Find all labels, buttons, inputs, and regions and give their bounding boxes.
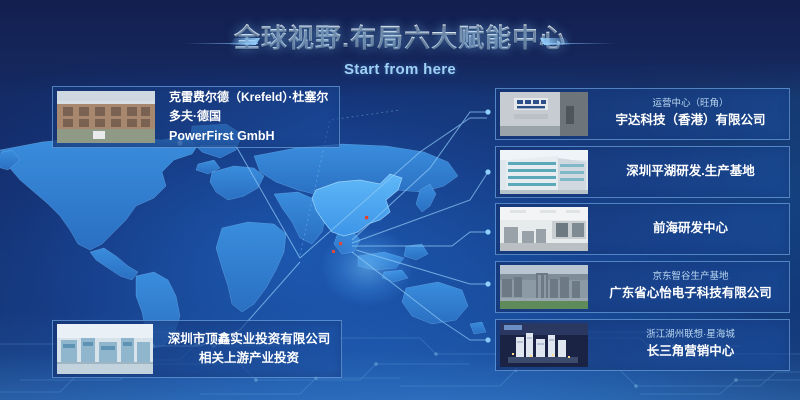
card-rc5-text: 浙江湖州联想·星海城 长三角营销中心 bbox=[592, 328, 789, 362]
slide-canvas: 全球视野.布局六大赋能中心 Start from here bbox=[0, 0, 800, 400]
qianhai-lab-interior-photo bbox=[500, 207, 588, 251]
card-shenzhen-dingxin[interactable]: 深圳市顶鑫实业投资有限公司 相关上游产业投资 bbox=[52, 320, 342, 378]
dingxin-production-line-photo bbox=[57, 324, 153, 374]
card-rc5-sub: 浙江湖州联想·星海城 bbox=[598, 328, 783, 342]
card-krefeld-line2: PowerFirst GmbH bbox=[169, 126, 333, 146]
card-krefeld-text: 克雷费尔德（Krefeld）·杜塞尔多夫·德国 PowerFirst GmbH bbox=[159, 88, 339, 146]
card-krefeld-powerfirst[interactable]: 克雷费尔德（Krefeld）·杜塞尔多夫·德国 PowerFirst GmbH bbox=[52, 86, 340, 148]
card-rc1-sub: 运营中心（旺角） bbox=[598, 97, 783, 111]
page-subtitle: Start from here bbox=[0, 61, 800, 78]
card-shenzhen-pinghu-base[interactable]: 深圳平湖研发.生产基地 bbox=[495, 146, 790, 198]
card-qianhai-rd-center[interactable]: 前海研发中心 bbox=[495, 203, 790, 255]
pinghu-factory-building-photo bbox=[500, 150, 588, 194]
card-krefeld-line1: 克雷费尔德（Krefeld）·杜塞尔多夫·德国 bbox=[169, 88, 333, 126]
card-jingdong-zhigu-base[interactable]: 京东智谷生产基地 广东省心怡电子科技有限公司 bbox=[495, 261, 790, 313]
card-rc3-main: 前海研发中心 bbox=[598, 219, 783, 238]
card-operations-center-mongkok[interactable]: 运营中心（旺角） 宇达科技（香港）有限公司 bbox=[495, 88, 790, 140]
card-rc4-main: 广东省心怡电子科技有限公司 bbox=[598, 284, 783, 303]
operations-center-signage-photo bbox=[500, 92, 588, 136]
jingdong-zhigu-aerial-photo bbox=[500, 265, 588, 309]
card-dingxin-text: 深圳市顶鑫实业投资有限公司 相关上游产业投资 bbox=[157, 330, 341, 369]
title-deco-right-icon bbox=[542, 38, 616, 48]
card-rc3-text: 前海研发中心 bbox=[592, 219, 789, 238]
title-block: 全球视野.布局六大赋能中心 Start from here bbox=[0, 18, 800, 78]
title-deco-left-icon bbox=[184, 38, 258, 48]
krefeld-building-photo bbox=[57, 91, 155, 143]
card-rc2-main: 深圳平湖研发.生产基地 bbox=[598, 162, 783, 181]
card-rc4-sub: 京东智谷生产基地 bbox=[598, 270, 783, 284]
card-dingxin-line2: 相关上游产业投资 bbox=[163, 349, 335, 368]
huzhou-lenovo-xinghaicheng-photo bbox=[500, 323, 588, 367]
card-rc4-text: 京东智谷生产基地 广东省心怡电子科技有限公司 bbox=[592, 270, 789, 304]
card-yangtze-delta-marketing-center[interactable]: 浙江湖州联想·星海城 长三角营销中心 bbox=[495, 319, 790, 371]
card-dingxin-line1: 深圳市顶鑫实业投资有限公司 bbox=[163, 330, 335, 349]
card-rc1-main: 宇达科技（香港）有限公司 bbox=[598, 111, 783, 130]
card-rc5-main: 长三角营销中心 bbox=[598, 342, 783, 361]
card-rc2-text: 深圳平湖研发.生产基地 bbox=[592, 162, 789, 181]
card-rc1-text: 运营中心（旺角） 宇达科技（香港）有限公司 bbox=[592, 97, 789, 131]
page-title: 全球视野.布局六大赋能中心 bbox=[234, 18, 566, 55]
